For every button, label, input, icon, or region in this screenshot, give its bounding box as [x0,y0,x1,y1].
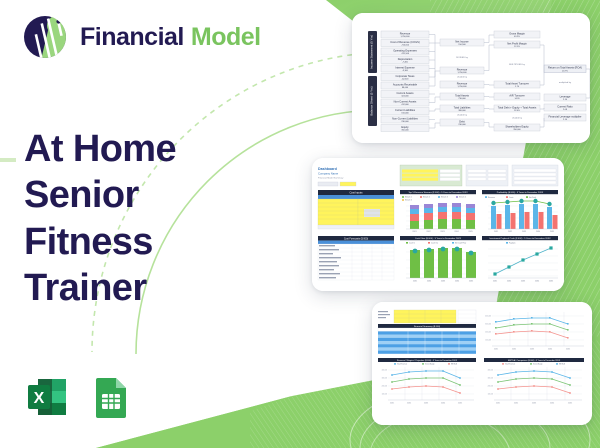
svg-text:Revenue / Margins / Projection: Revenue / Margins / Projection ($ 000) -… [397,359,458,362]
svg-text:100,000: 100,000 [382,394,388,396]
svg-text:20.7%: 20.7% [562,71,568,73]
svg-text:20X3: 20X3 [521,281,525,283]
svg-text:400,000: 400,000 [382,370,388,372]
google-sheets-icon[interactable] [88,374,134,420]
svg-text:Stream 1: Stream 1 [405,196,412,199]
svg-text:Depreciation: Depreciation [398,57,413,61]
svg-text:20X5: 20X5 [468,231,472,233]
title-line-1: At Home [24,126,176,172]
svg-text:Financial Summary ($ 000): Financial Summary ($ 000) [414,325,441,328]
svg-text:43.2%: 43.2% [514,36,520,38]
svg-text:324,000: 324,000 [401,96,409,98]
svg-text:20X1: 20X1 [493,281,497,283]
svg-text:Income Statement (5 Yrs): Income Statement (5 Yrs) [370,35,374,69]
svg-text:20X3: 20X3 [424,403,428,405]
svg-text:Stream 4: Stream 4 [459,196,466,199]
svg-text:12.1%: 12.1% [514,46,520,48]
svg-text:20X1: 20X1 [413,281,417,283]
svg-text:412,000: 412,000 [401,104,409,106]
svg-text:150,500: 150,500 [458,44,466,46]
svg-text:Costs: Costs [509,196,513,199]
svg-text:386,000: 386,000 [458,110,466,112]
svg-text:-7,400: -7,400 [402,62,409,64]
svg-text:1,250,000: 1,250,000 [458,86,468,88]
svg-text:Total Asset Turnover: Total Asset Turnover [505,81,529,85]
svg-text:-62,500: -62,500 [402,79,410,81]
svg-text:20X1: 20X1 [390,403,394,405]
svg-text:Gross Margin: Gross Margin [425,364,435,366]
brand-name-part2: Model [191,23,261,52]
svg-text:20X4: 20X4 [536,231,540,233]
microsoft-excel-icon[interactable]: X [24,374,70,420]
svg-text:Return on Total Assets (ROA): Return on Total Assets (ROA) [548,66,582,70]
svg-text:Gross Margin: Gross Margin [533,364,543,366]
svg-text:Total Assets: Total Assets [455,93,470,97]
title-line-2: Senior [24,172,176,218]
svg-text:Payback: Payback [509,243,516,245]
charts-page-preview: Financial Summary ($ 000) [372,302,592,425]
svg-text:Operating Expenses: Operating Expenses [393,48,417,52]
brand-logo: Financial Model [22,14,261,60]
svg-text:Net Profit Margin: Net Profit Margin [507,41,527,45]
svg-text:Balance Sheet (5 Yrs): Balance Sheet (5 Yrs) [370,86,374,115]
title-line-4: Trainer [24,265,176,311]
svg-text:88,000: 88,000 [402,87,409,89]
svg-text:Financial Leverage multiplier: Financial Leverage multiplier [548,114,581,118]
svg-text:400,000: 400,000 [485,316,491,318]
svg-text:Leverage: Leverage [560,94,571,98]
svg-text:Interest Expense: Interest Expense [395,65,415,69]
svg-text:20X3: 20X3 [440,231,444,233]
svg-text:Revenue: Revenue [457,81,468,85]
svg-text:Stream 3: Stream 3 [441,196,448,199]
svg-text:1,250,000: 1,250,000 [458,72,468,74]
svg-text:Dashboard: Dashboard [318,167,337,171]
svg-text:20X4: 20X4 [535,281,539,283]
svg-text:20X1: 20X1 [496,403,500,405]
svg-text:100,000: 100,000 [485,340,491,342]
svg-text:Total Debt + Equity ÷ Total As: Total Debt + Equity ÷ Total Assets [498,105,537,109]
brand-name: Financial Model [80,23,261,52]
svg-text:A/R Turnover: A/R Turnover [509,93,524,97]
financial-charts-card[interactable]: Financial Summary ($ 000) [372,302,592,425]
svg-text:20X5: 20X5 [549,281,553,283]
dashboard-preview: Dashboard Company Name Financial Model S… [312,158,564,291]
svg-text:Non-Current Liabilities: Non-Current Liabilities [392,116,418,120]
svg-text:20X5: 20X5 [458,403,462,405]
svg-text:Revenue: Revenue [400,31,411,35]
svg-text:Shareholders Equity: Shareholders Equity [505,124,529,128]
svg-text:-221,500: -221,500 [401,53,410,55]
svg-text:230,000: 230,000 [458,124,466,126]
svg-text:divided by: divided by [457,77,468,79]
svg-text:Stream 2: Stream 2 [423,196,430,199]
svg-text:14.20: 14.20 [514,98,520,100]
svg-text:20X4: 20X4 [548,349,552,351]
dupont-tree-preview: Income Statement (5 Yrs) Balance Sheet (… [352,13,590,143]
svg-text:Current Assets: Current Assets [396,91,414,95]
svg-text:20X3: 20X3 [441,281,445,283]
svg-text:350,000: 350,000 [401,130,409,132]
svg-text:20X1: 20X1 [494,349,498,351]
svg-text:Cost Inputs: Cost Inputs [349,191,363,195]
svg-text:DIVIDED by: DIVIDED by [456,57,469,59]
svg-text:100,000: 100,000 [488,394,494,396]
svg-text:20X2: 20X2 [514,403,518,405]
svg-text:20X2: 20X2 [427,281,431,283]
cashflow-bars [410,248,476,278]
title-line-3: Fitness [24,219,176,265]
svg-text:Net Profit: Net Profit [529,196,537,199]
brand-name-part1: Financial [80,23,184,52]
promo-banner: Financial Model At Home Senior Fitness T… [0,0,600,448]
svg-text:Net Income: Net Income [455,39,469,43]
svg-text:Profitability ($ 000) - 5 Year: Profitability ($ 000) - 5 Years to Decem… [497,191,544,194]
svg-text:Financial Model Summary: Financial Model Summary [318,177,344,180]
svg-text:divided by: divided by [512,117,523,119]
svg-text:Equity: Equity [401,125,409,129]
svg-text:divided by: divided by [457,115,468,117]
svg-text:20X5: 20X5 [566,349,570,351]
svg-text:Current Ratio: Current Ratio [557,104,573,108]
svg-text:Non-Current Assets: Non-Current Assets [394,99,417,103]
svg-text:Cash Out: Cash Out [431,242,439,245]
svg-text:-710,000: -710,000 [401,45,410,47]
page-title: At Home Senior Fitness Trainer [24,126,176,311]
svg-text:Current Liabilities: Current Liabilities [395,108,416,112]
svg-text:20X4: 20X4 [455,281,459,283]
svg-text:Corporate Taxes: Corporate Taxes [396,74,416,78]
svg-text:EBITDA / Comparison ($ 000) -: EBITDA / Comparison ($ 000) - 5 Years to… [508,359,561,362]
svg-text:20X2: 20X2 [507,281,511,283]
svg-text:20X3: 20X3 [530,349,534,351]
svg-text:20X5: 20X5 [568,403,572,405]
excel-letter: X [34,390,45,407]
dupont-analysis-card[interactable]: Income Statement (5 Yrs) Balance Sheet (… [352,13,590,143]
svg-text:20X5: 20X5 [550,231,554,233]
svg-text:20X1: 20X1 [494,231,498,233]
svg-text:Net Cash Flow: Net Cash Flow [455,242,467,245]
svg-text:20X2: 20X2 [512,349,516,351]
svg-text:20X4: 20X4 [454,231,458,233]
svg-text:Investment Payback Cash ($ 000: Investment Payback Cash ($ 000) - 5 Year… [489,237,551,240]
svg-text:Revenue: Revenue [488,197,495,199]
svg-text:200,000: 200,000 [485,332,491,334]
svg-text:20X4: 20X4 [441,403,445,405]
svg-text:300,000: 300,000 [382,378,388,380]
svg-text:Top 5 Revenue Streams ($ 000): Top 5 Revenue Streams ($ 000) - 5 Years … [408,191,468,194]
svg-text:300,000: 300,000 [485,324,491,326]
svg-text:20X4: 20X4 [550,403,554,405]
svg-text:Stream 5: Stream 5 [405,199,412,202]
dashboard-card[interactable]: Dashboard Company Name Financial Model S… [312,158,564,291]
svg-text:300,000: 300,000 [488,378,494,380]
svg-text:Accounts Receivable: Accounts Receivable [393,82,418,86]
svg-text:20X3: 20X3 [522,231,526,233]
svg-text:Company Name: Company Name [318,172,339,176]
svg-text:350,000: 350,000 [513,129,521,131]
svg-text:400,000: 400,000 [488,370,494,372]
svg-text:Cost of Revenue (COGS): Cost of Revenue (COGS) [390,40,420,44]
svg-text:20X2: 20X2 [508,231,512,233]
svg-text:20X3: 20X3 [532,403,536,405]
svg-text:Total Liabilities: Total Liabilities [454,105,472,109]
svg-text:200,000: 200,000 [488,386,494,388]
svg-text:Cash In: Cash In [409,243,415,245]
circle-bar-chart-logo-icon [22,14,68,60]
file-format-icons: X [24,374,134,420]
svg-text:20X1: 20X1 [412,231,416,233]
svg-text:Cost Forecasts ($ 000): Cost Forecasts ($ 000) [344,238,369,241]
svg-text:MULTIPLIED by: MULTIPLIED by [509,64,526,66]
svg-text:Revenue: Revenue [457,67,468,71]
svg-text:156,000: 156,000 [401,113,409,115]
svg-text:-3,100: -3,100 [402,70,409,72]
svg-text:52.4%: 52.4% [514,110,520,112]
svg-text:Gross Margin: Gross Margin [509,31,525,35]
svg-text:736,000: 736,000 [458,98,466,100]
svg-text:1,250,000: 1,250,000 [401,36,411,38]
svg-text:multiplied by: multiplied by [559,81,572,84]
svg-text:200,000: 200,000 [382,386,388,388]
svg-text:20X5: 20X5 [469,281,473,283]
svg-text:Debt: Debt [459,119,465,123]
svg-text:20X2: 20X2 [426,231,430,233]
svg-text:Cash Flow ($ 000) - 5 Years to: Cash Flow ($ 000) - 5 Years to December … [415,237,462,240]
svg-text:20X2: 20X2 [407,403,411,405]
svg-text:230,000: 230,000 [401,121,409,123]
